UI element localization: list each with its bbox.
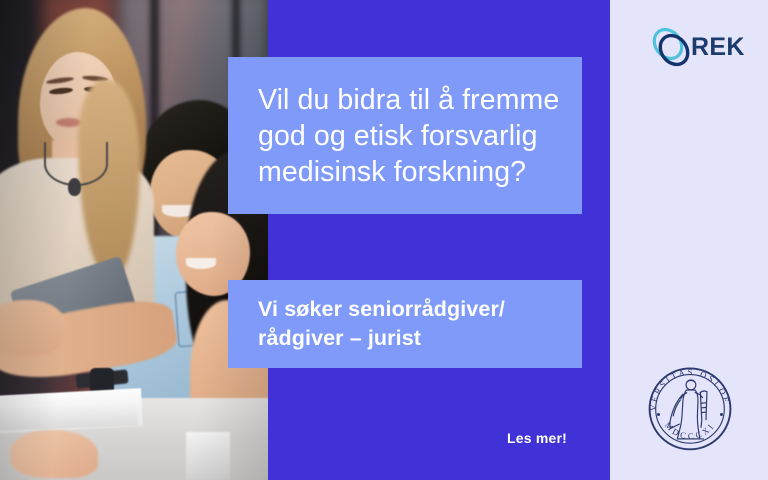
read-more-link[interactable]: Les mer!	[507, 430, 567, 446]
rek-interlocking-ellipses-icon	[650, 26, 694, 68]
rek-wordmark: REK	[691, 35, 745, 60]
rek-logo[interactable]: REK	[650, 26, 742, 68]
job-title-text: Vi søker seniorrådgiver/ rådgiver – juri…	[258, 295, 505, 353]
svg-text:UNIVERSITAS OSLOENSIS: UNIVERSITAS OSLOENSIS	[643, 358, 732, 411]
uio-seal-apollo-icon: UNIVERSITAS OSLOENSIS MDCCCXI	[643, 358, 737, 456]
uio-seal-top-text: UNIVERSITAS OSLOENSIS	[643, 358, 732, 411]
recruitment-banner: Vil du bidra til å fremme god og etisk f…	[0, 0, 768, 480]
headline-box: Vil du bidra til å fremme god og etisk f…	[228, 57, 582, 214]
headline-text: Vil du bidra til å fremme god og etisk f…	[258, 82, 559, 190]
uio-seal: UNIVERSITAS OSLOENSIS MDCCCXI	[643, 358, 737, 456]
job-title-box: Vi søker seniorrådgiver/ rådgiver – juri…	[228, 280, 582, 368]
